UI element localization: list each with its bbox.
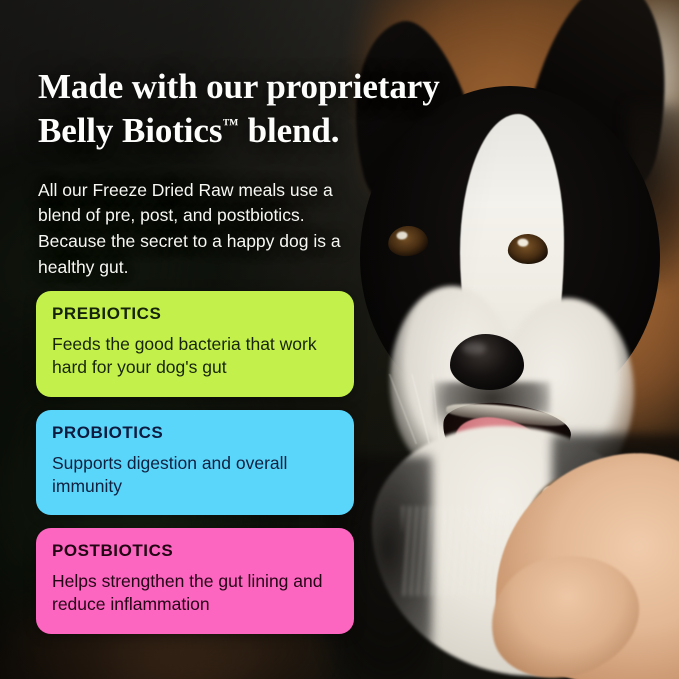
- headline-line-2-suffix: blend.: [239, 111, 339, 150]
- product-benefits-banner: Made with our proprietary Belly Biotics™…: [0, 0, 679, 679]
- benefit-card-postbiotics-body: Helps strengthen the gut lining and redu…: [52, 570, 338, 617]
- headline-line-1: Made with our proprietary: [38, 67, 440, 106]
- benefit-card-postbiotics-title: POSTBIOTICS: [52, 541, 338, 561]
- page-title: Made with our proprietary Belly Biotics™…: [38, 65, 468, 152]
- headline-line-2-brand: Belly Biotics: [38, 111, 222, 150]
- trademark-symbol: ™: [222, 116, 239, 133]
- benefit-card-probiotics: PROBIOTICS Supports digestion and overal…: [36, 410, 354, 516]
- benefit-card-prebiotics-title: PREBIOTICS: [52, 304, 338, 324]
- banner-content: Made with our proprietary Belly Biotics™…: [0, 0, 679, 679]
- benefit-card-prebiotics: PREBIOTICS Feeds the good bacteria that …: [36, 291, 354, 397]
- benefit-card-list: PREBIOTICS Feeds the good bacteria that …: [36, 291, 354, 647]
- benefit-card-probiotics-title: PROBIOTICS: [52, 423, 338, 443]
- benefit-card-postbiotics: POSTBIOTICS Helps strengthen the gut lin…: [36, 528, 354, 634]
- benefit-card-probiotics-body: Supports digestion and overall immunity: [52, 452, 338, 499]
- intro-paragraph: All our Freeze Dried Raw meals use a ble…: [38, 178, 348, 281]
- benefit-card-prebiotics-body: Feeds the good bacteria that work hard f…: [52, 333, 338, 380]
